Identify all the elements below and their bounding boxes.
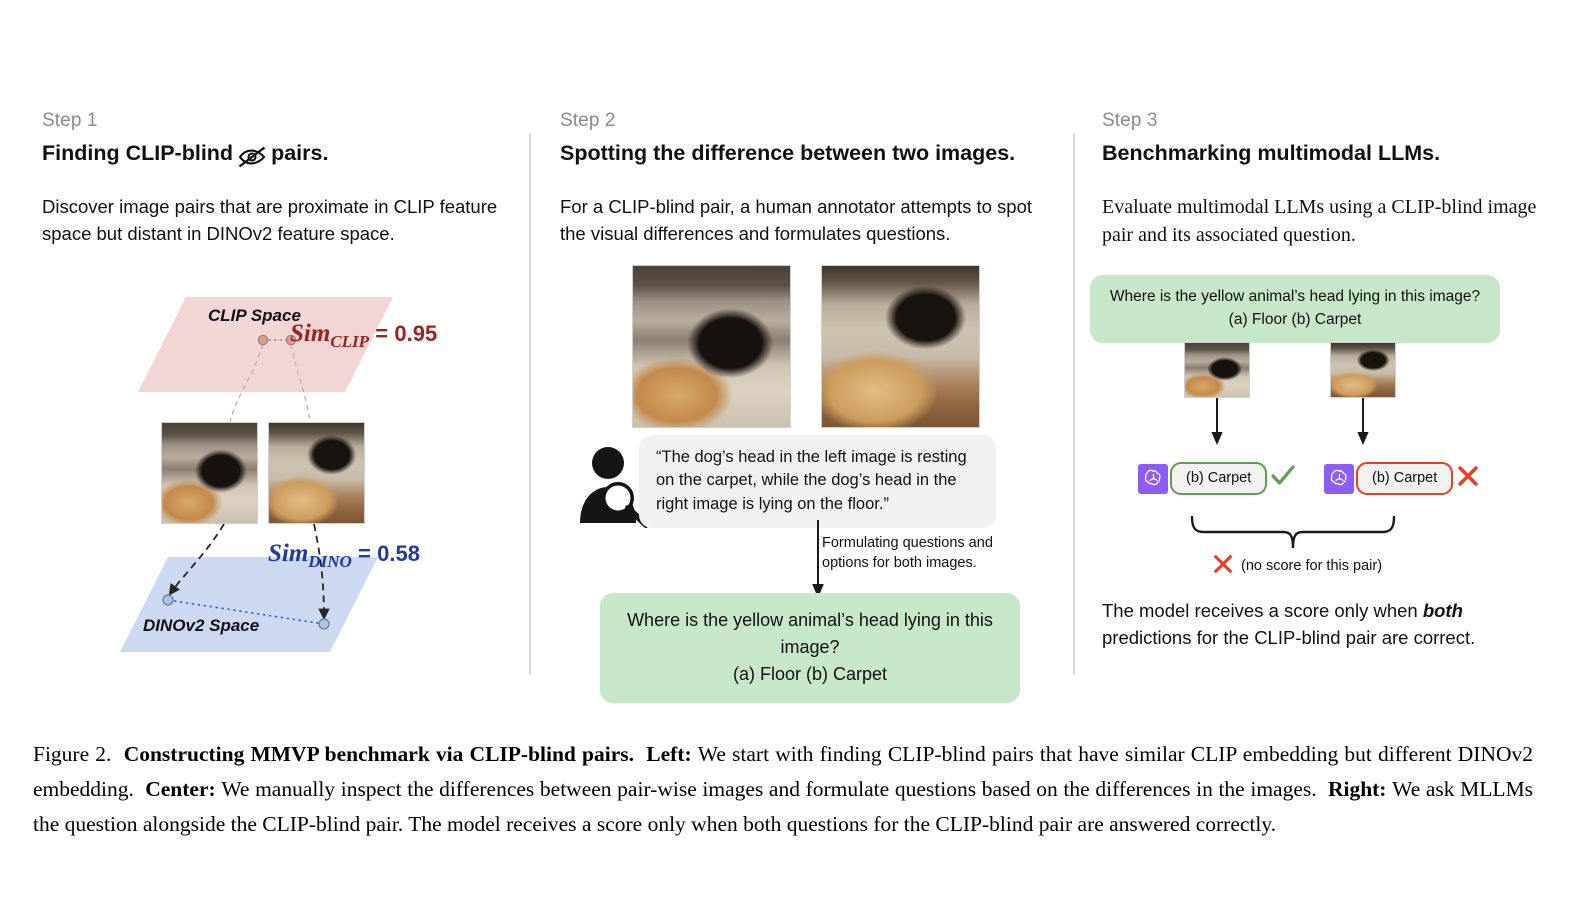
- conclusion-emphasis: both: [1423, 600, 1463, 621]
- caption-center-label: Center:: [145, 777, 215, 801]
- step-2-body: For a CLIP-blind pair, a human annotator…: [560, 194, 1060, 248]
- conclusion-part-2: predictions for the CLIP-blind pair are …: [1102, 627, 1475, 648]
- eye-slash-icon: [237, 145, 267, 169]
- step-2-image-right: [821, 265, 980, 428]
- figure-caption: Figure 2. Constructing MMVP benchmark vi…: [33, 737, 1533, 841]
- step-1-heading: Finding CLIP-blind pairs.: [42, 141, 512, 166]
- dinov2-space-label: DINOv2 Space: [143, 616, 259, 636]
- step-2-label: Step 2: [560, 110, 1060, 132]
- step-3-image-pair: [1178, 342, 1488, 412]
- clip-embedding-dot-1: [258, 335, 267, 344]
- conclusion-part-1: The model receives a score only when: [1102, 600, 1423, 621]
- caption-right-label: Right:: [1328, 777, 1387, 801]
- model-answers-row: (b) Carpet (b) Carpet: [1138, 462, 1528, 512]
- question-box-step-3: Where is the yellow animal’s head lying …: [1090, 275, 1500, 343]
- step-2-image-left: [632, 265, 791, 428]
- caption-center-text: We manually inspect the differences betw…: [221, 777, 1316, 801]
- image-to-answer-arrow-right-icon: [1354, 398, 1374, 448]
- clip-space-label: CLIP Space: [208, 306, 301, 326]
- column-divider-2: [1073, 133, 1075, 675]
- openai-logo-icon: [1138, 464, 1168, 494]
- clip-blind-pair-image-right: [268, 422, 365, 524]
- pair-brace-icon: [1188, 515, 1398, 551]
- question-box-step-2: Where is the yellow animal’s head lying …: [600, 593, 1020, 703]
- sim-clip-label: SimCLIP = 0.95: [290, 320, 437, 352]
- step-1-body: Discover image pairs that are proximate …: [42, 194, 512, 248]
- no-score-note: (no score for this pair): [1212, 553, 1382, 579]
- clip-dino-space-diagram: CLIP Space DINOv2 Space SimCLIP = 0.95 S…: [78, 282, 518, 662]
- dino-embedding-dot-1: [163, 595, 173, 605]
- question-options: (a) Floor (b) Carpet: [610, 661, 1010, 688]
- step-3-label: Step 3: [1102, 110, 1552, 132]
- step-1-heading-text-before: Finding CLIP-blind: [42, 141, 233, 166]
- model-answer-right: (b) Carpet: [1324, 462, 1480, 495]
- question-text: Where is the yellow animal’s head lying …: [1100, 286, 1490, 309]
- sim-dino-label: SimDINO = 0.58: [268, 540, 420, 572]
- cross-icon: [1212, 553, 1234, 579]
- step-3-body: Evaluate multimodal LLMs using a CLIP-bl…: [1102, 194, 1552, 249]
- step-2-column: Step 2 Spotting the difference between t…: [560, 110, 1060, 248]
- annotator-speech-bubble: “The dog’s head in the left image is res…: [639, 435, 996, 528]
- column-divider-1: [529, 133, 531, 675]
- clip-blind-pair-image-left: [161, 422, 258, 524]
- question-options: (a) Floor (b) Carpet: [1100, 309, 1490, 332]
- step-3-image-right: [1330, 342, 1396, 398]
- model-answer-left: (b) Carpet: [1138, 462, 1296, 495]
- caption-left-label: Left:: [646, 742, 691, 766]
- step-2-heading: Spotting the difference between two imag…: [560, 141, 1060, 166]
- step-1-label: Step 1: [42, 110, 512, 132]
- cross-icon: [1456, 464, 1480, 493]
- formulating-note: Formulating questions and options for bo…: [822, 534, 997, 573]
- dino-embedding-dot-2: [319, 619, 329, 629]
- step-3-conclusion: The model receives a score only when bot…: [1102, 598, 1552, 652]
- figure-root: Step 1 Finding CLIP-blind pairs. Discove…: [0, 0, 1572, 902]
- answer-bubble-correct: (b) Carpet: [1170, 462, 1267, 495]
- step-3-column: Step 3 Benchmarking multimodal LLMs. Eva…: [1102, 110, 1552, 249]
- no-score-text: (no score for this pair): [1241, 558, 1382, 574]
- step-3-image-left: [1184, 342, 1250, 398]
- image-to-answer-arrow-left-icon: [1208, 398, 1228, 448]
- check-icon: [1270, 464, 1296, 493]
- step-1-column: Step 1 Finding CLIP-blind pairs. Discove…: [42, 110, 512, 248]
- answer-bubble-incorrect: (b) Carpet: [1356, 462, 1453, 495]
- question-text: Where is the yellow animal’s head lying …: [610, 607, 1010, 661]
- step-3-heading: Benchmarking multimodal LLMs.: [1102, 141, 1552, 166]
- step-2-image-pair: [632, 265, 980, 428]
- caption-figure-number: Figure 2.: [33, 742, 111, 766]
- openai-logo-icon: [1324, 464, 1354, 494]
- caption-title: Constructing MMVP benchmark via CLIP-bli…: [124, 742, 634, 766]
- step-1-heading-text-after: pairs.: [271, 141, 328, 166]
